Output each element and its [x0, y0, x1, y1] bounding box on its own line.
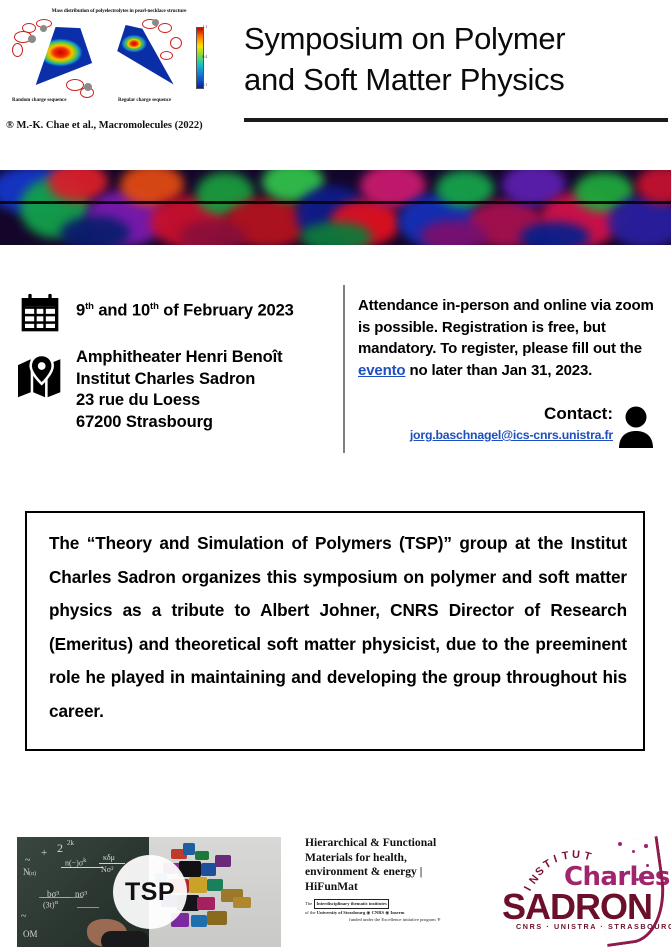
figure-panel-regular: 1.1 0.4 0.1 Regular charge sequence [112, 17, 206, 102]
map-location-icon [16, 355, 64, 399]
heatmap-cone-random [32, 27, 94, 85]
hifunmat-line-3: environment & energy | [305, 865, 485, 880]
figure-credit: ® M.-K. Chae et al., Macromolecules (202… [6, 120, 203, 131]
banner-horizontal-line [0, 201, 671, 204]
description-box: The “Theory and Simulation of Polymers (… [25, 511, 645, 751]
hifunmat-line-2: Materials for health, [305, 851, 485, 866]
pearl-bead-icon [152, 19, 159, 26]
fineprint-1a: The [305, 901, 312, 906]
figure-caption-left: Random charge sequence [12, 98, 66, 103]
page-title-line2: and Soft Matter Physics [244, 59, 664, 100]
fineprint-2a: of the [305, 910, 316, 915]
hifunmat-logo: Hierarchical & Functional Materials for … [305, 836, 485, 923]
colorbar-min-label: 0.1 [203, 83, 208, 87]
fineprint-line-3: funded under the Excellence initiative p… [305, 916, 485, 923]
ics-dot-icon [646, 864, 649, 867]
description-text: The “Theory and Simulation of Polymers (… [49, 527, 627, 729]
colorbar-mid-label: 0.4 [203, 55, 208, 59]
venue-line-1: Amphitheater Henri Benoît [76, 347, 283, 369]
polymer-chain-icon [158, 23, 172, 33]
registration-text-part2: no later than Jan 31, 2023. [405, 362, 592, 379]
pearl-bead-icon [40, 25, 47, 32]
fineprint-2d: Inserm [390, 910, 404, 915]
contact-label: Contact: [544, 404, 613, 424]
person-icon [619, 406, 653, 448]
poster-root: Mass distribution of polyelectrolytes in… [0, 0, 671, 950]
registration-info: Attendance in-person and online via zoom… [358, 295, 658, 381]
fineprint-line-2: of the University of Strasbourg ◉ CNRS ◉… [305, 909, 485, 916]
pearl-bead-icon [28, 35, 36, 43]
event-date-joiner: and [94, 302, 132, 320]
venue-line-4: 67200 Strasbourg [76, 412, 283, 434]
venue-line-2: Institut Charles Sadron [76, 369, 283, 391]
calendar-icon [20, 293, 60, 333]
simulation-banner-image [0, 170, 671, 245]
evento-link[interactable]: evento [358, 362, 405, 379]
polymer-chain-icon [12, 43, 23, 57]
ics-dot-icon [644, 844, 648, 848]
cnrs-mark-icon: ◉ [366, 910, 370, 915]
institut-charles-sadron-logo: I N S T I T U T Charles SADRON CNRS · UN… [496, 834, 664, 948]
venue-address: Amphitheater Henri Benoît Institut Charl… [76, 347, 283, 433]
event-date-rest: of February 2023 [159, 302, 294, 320]
page-title-line1: Symposium on Polymer [244, 18, 664, 59]
poster-footer: ~ + 2 2k N (α) n(−)σk κδμ Nσ² bσ³ (3t)α … [0, 832, 671, 950]
ics-institut-letter: U [572, 849, 583, 862]
hifunmat-line-1: Hierarchical & Functional [305, 836, 485, 851]
ics-dot-icon [636, 878, 639, 881]
fineprint-2c: CNRS [372, 910, 385, 915]
event-date-day2: 10 [132, 302, 150, 320]
polymer-chain-icon [160, 51, 173, 60]
pearl-bead-icon [84, 83, 92, 91]
colorbar-max-label: 1.1 [203, 25, 208, 29]
figure-panel-random: Random charge sequence [10, 17, 110, 102]
event-date-sup1: th [85, 301, 94, 312]
contact-email-link[interactable]: jorg.baschnagel@ics-cnrs.unistra.fr [410, 428, 613, 442]
polymer-chain-icon [170, 37, 182, 49]
fineprint-3: funded under the Excellence initiative p… [349, 917, 436, 922]
figure-panels: Random charge sequence 1.1 0.4 0.1 Regul… [8, 17, 230, 102]
inserm-mark-icon: ◉ [385, 910, 389, 915]
hifunmat-title: Hierarchical & Functional Materials for … [305, 836, 485, 894]
page-title: Symposium on Polymer and Soft Matter Phy… [244, 18, 664, 100]
fineprint-2b: University of Strasbourg [317, 910, 366, 915]
hifunmat-line-4: HiFunMat [305, 880, 485, 895]
tsp-group-logo: ~ + 2 2k N (α) n(−)σk κδμ Nσ² bσ³ (3t)α … [17, 837, 281, 947]
figure-caption-right: Regular charge sequence [118, 98, 171, 103]
tsp-logo-badge: TSP [113, 855, 187, 929]
title-divider [244, 118, 668, 122]
registration-text-part1: Attendance in-person and online via zoom… [358, 297, 654, 357]
info-section: 9th and 10th of February 2023 Amphitheat… [0, 285, 671, 465]
ics-dot-icon [632, 850, 635, 853]
excellence-seal-icon: ⚜ [437, 917, 441, 922]
fineprint-1b: Interdisciplinary thematic institutes [316, 901, 386, 906]
polymer-chain-icon [22, 23, 36, 33]
venue-line-3: 23 rue du Loess [76, 390, 283, 412]
info-column-divider [343, 285, 345, 453]
figure-title: Mass distribution of polyelectrolytes in… [8, 8, 230, 15]
event-date: 9th and 10th of February 2023 [76, 301, 294, 321]
poster-header: Mass distribution of polyelectrolytes in… [0, 0, 671, 150]
research-figure: Mass distribution of polyelectrolytes in… [8, 8, 230, 116]
event-date-day1: 9 [76, 302, 85, 320]
ics-dot-icon [618, 842, 622, 846]
hifunmat-fineprint: The Interdisciplinary thematic institute… [305, 899, 485, 923]
event-date-sup2: th [150, 301, 159, 312]
tsp-logo-label: TSP [125, 878, 175, 907]
fineprint-line-1: The Interdisciplinary thematic institute… [305, 899, 485, 908]
ics-institut-letter: T [561, 849, 571, 862]
